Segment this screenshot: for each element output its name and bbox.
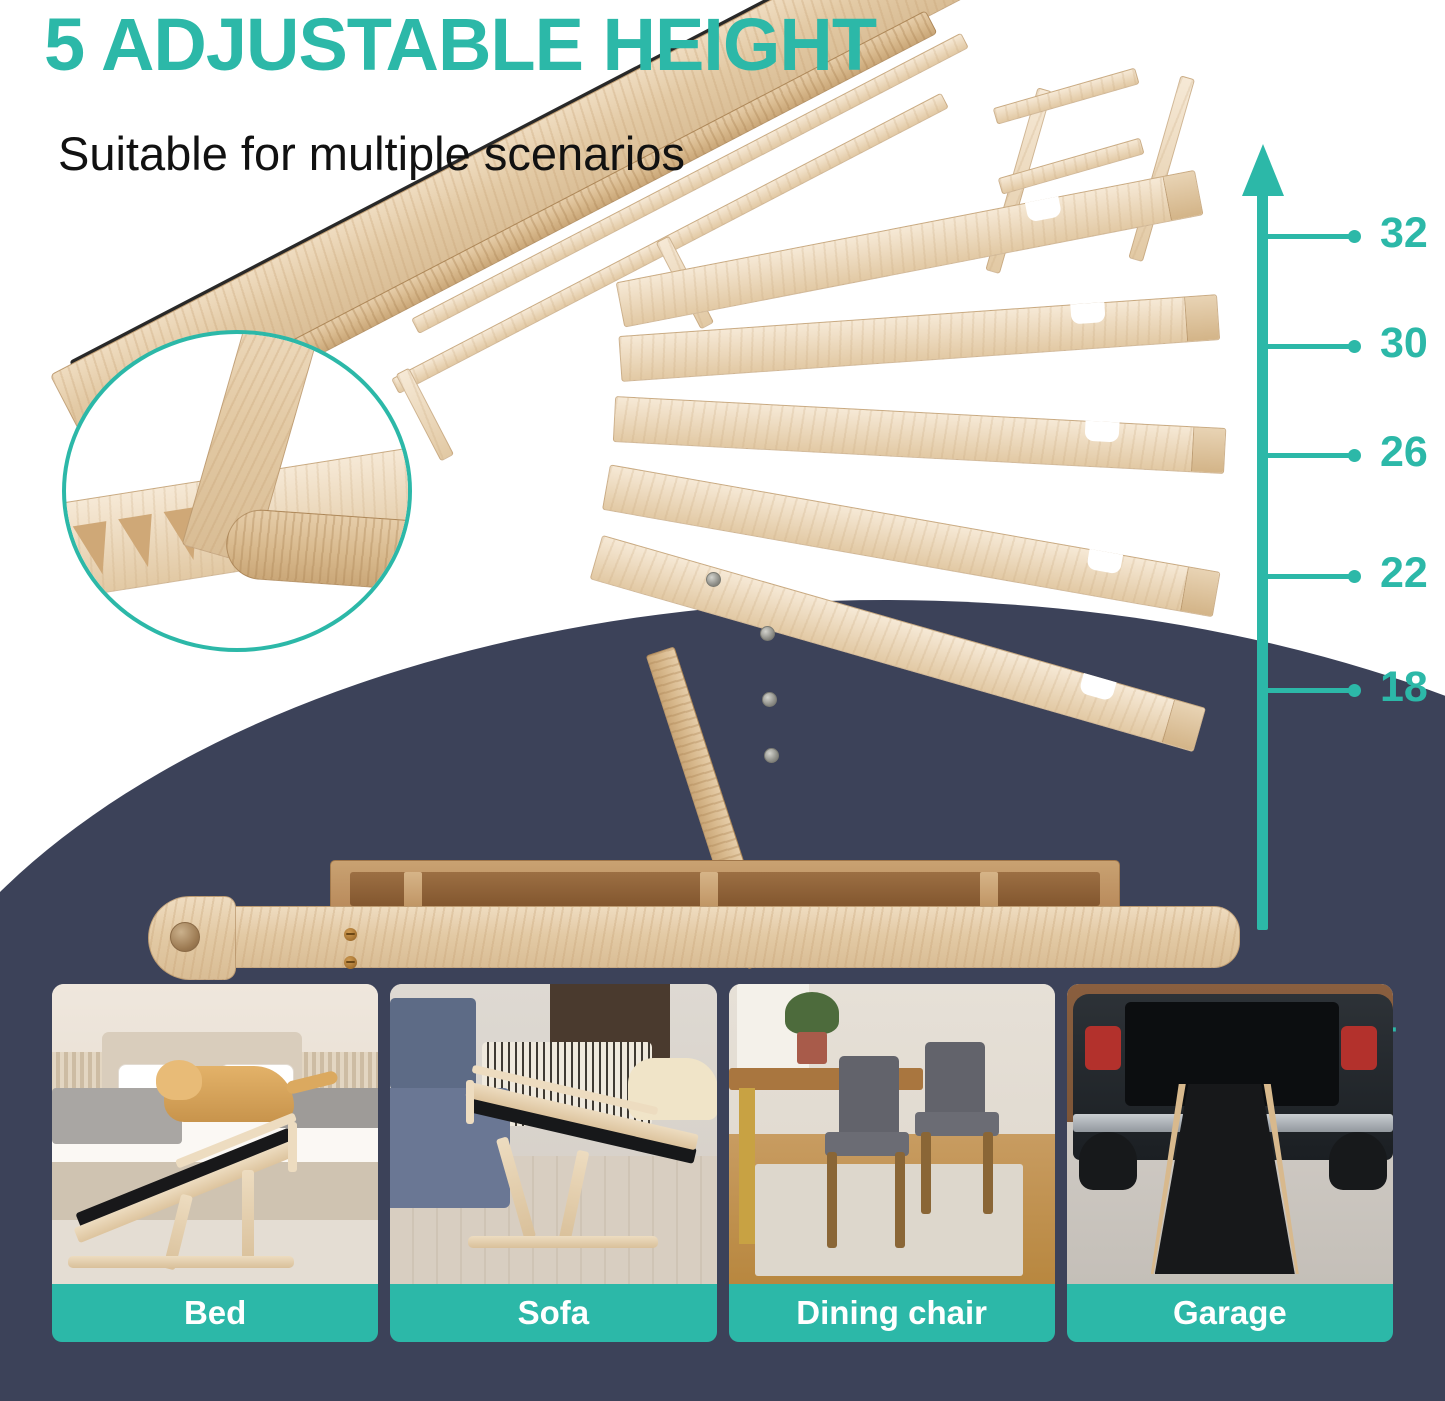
dining-chair-back-front [839, 1056, 899, 1140]
scenario-label-garage: Garage [1067, 1284, 1393, 1342]
leg-notch-30 [1070, 302, 1105, 324]
scenario-card-sofa[interactable]: Sofa [390, 984, 716, 1379]
dining-table-leg [739, 1088, 755, 1244]
scale-axis-line [1257, 188, 1268, 930]
dining-chair-leg-rear-right [983, 1132, 993, 1214]
pivot-bolt-4 [764, 748, 779, 763]
tick-line-32 [1262, 234, 1354, 239]
scenario-label-dining-chair: Dining chair [729, 1284, 1055, 1342]
inset-round-dowel [224, 507, 412, 594]
tick-label-26: 26 [1380, 431, 1428, 474]
tick-dot-26 [1348, 449, 1361, 462]
notch-tooth-2 [118, 514, 160, 571]
height-scale: 32 30 26 22 18 HEIGHT [1236, 140, 1445, 930]
scenario-image-bed [52, 984, 378, 1284]
leg-end-cap-26 [1191, 427, 1225, 473]
dining-plant [785, 992, 839, 1034]
leg-notch-26 [1085, 421, 1120, 443]
end-rail-rung-top [993, 68, 1140, 125]
scenario-card-garage[interactable]: Garage [1067, 984, 1393, 1379]
tick-line-18 [1262, 688, 1354, 693]
dog-head [156, 1060, 202, 1100]
tick-dot-30 [1348, 340, 1361, 353]
pivot-bolt-2 [760, 626, 775, 641]
pivot-bolt-1 [706, 572, 721, 587]
page-title: 5 ADJUSTABLE HEIGHT [44, 2, 876, 87]
scenario-image-dining-chair [729, 984, 1055, 1284]
bed-ramp-rail-post [288, 1122, 297, 1172]
page-subtitle: Suitable for multiple scenarios [58, 126, 685, 181]
detail-inset-content [66, 334, 408, 648]
scenario-card-dining-chair[interactable]: Dining chair [729, 984, 1055, 1379]
dining-chair-leg-front-left [827, 1152, 837, 1248]
leg-end-cap-32 [1163, 171, 1203, 220]
tick-dot-18 [1348, 684, 1361, 697]
support-leg-26 [613, 396, 1227, 474]
hinge-pin [170, 922, 200, 952]
car-tire-right [1329, 1132, 1387, 1190]
sofa-back-cushion [390, 998, 476, 1090]
bed-ramp-leg-front [242, 1170, 254, 1266]
dining-chair-leg-rear-left [921, 1132, 931, 1214]
leg-end-cap-18 [1162, 700, 1205, 751]
tick-label-22: 22 [1380, 552, 1428, 595]
leg-notch-22 [1086, 549, 1123, 575]
sofa-ramp-rail-post [466, 1080, 474, 1124]
car-tire-left [1079, 1132, 1137, 1190]
scenario-card-bed[interactable]: Bed [52, 984, 378, 1379]
scenario-label-bed: Bed [52, 1284, 378, 1342]
base-rib-3 [980, 872, 998, 908]
tick-line-30 [1262, 344, 1354, 349]
tick-line-26 [1262, 453, 1354, 458]
car-taillight-left [1085, 1026, 1121, 1070]
end-rail-post-right [1128, 75, 1195, 262]
leg-notch-32 [1025, 196, 1062, 222]
tick-label-30: 30 [1380, 322, 1428, 365]
infographic-canvas: 32 30 26 22 18 HEIGHT 5 ADJUSTABLE HEIGH… [0, 0, 1445, 1401]
pivot-bolt-3 [762, 692, 777, 707]
leg-notch-18 [1078, 673, 1116, 702]
notch-tooth-1 [73, 521, 115, 578]
sofa-ramp-base-rail [468, 1236, 658, 1248]
tick-line-22 [1262, 574, 1354, 579]
scenario-thumbnail-row: Bed Sofa [0, 968, 1445, 1401]
base-rib-2 [700, 872, 718, 908]
leg-end-cap-22 [1180, 567, 1219, 616]
car-taillight-right [1341, 1026, 1377, 1070]
scenario-label-sofa: Sofa [390, 1284, 716, 1342]
detail-inset-circle [62, 330, 412, 652]
scenario-image-garage [1067, 984, 1393, 1284]
tick-label-18: 18 [1380, 666, 1428, 709]
tick-label-32: 32 [1380, 212, 1428, 255]
base-rib-1 [404, 872, 422, 908]
dining-chair-leg-front-right [895, 1152, 905, 1248]
tick-dot-32 [1348, 230, 1361, 243]
bed-ramp-base-rail [68, 1256, 294, 1268]
dining-vase [797, 1032, 827, 1064]
scenario-image-sofa [390, 984, 716, 1284]
tick-dot-22 [1348, 570, 1361, 583]
base-frame-front-rail [150, 906, 1240, 968]
leg-end-cap-30 [1184, 295, 1219, 341]
base-screw-1 [344, 928, 357, 941]
